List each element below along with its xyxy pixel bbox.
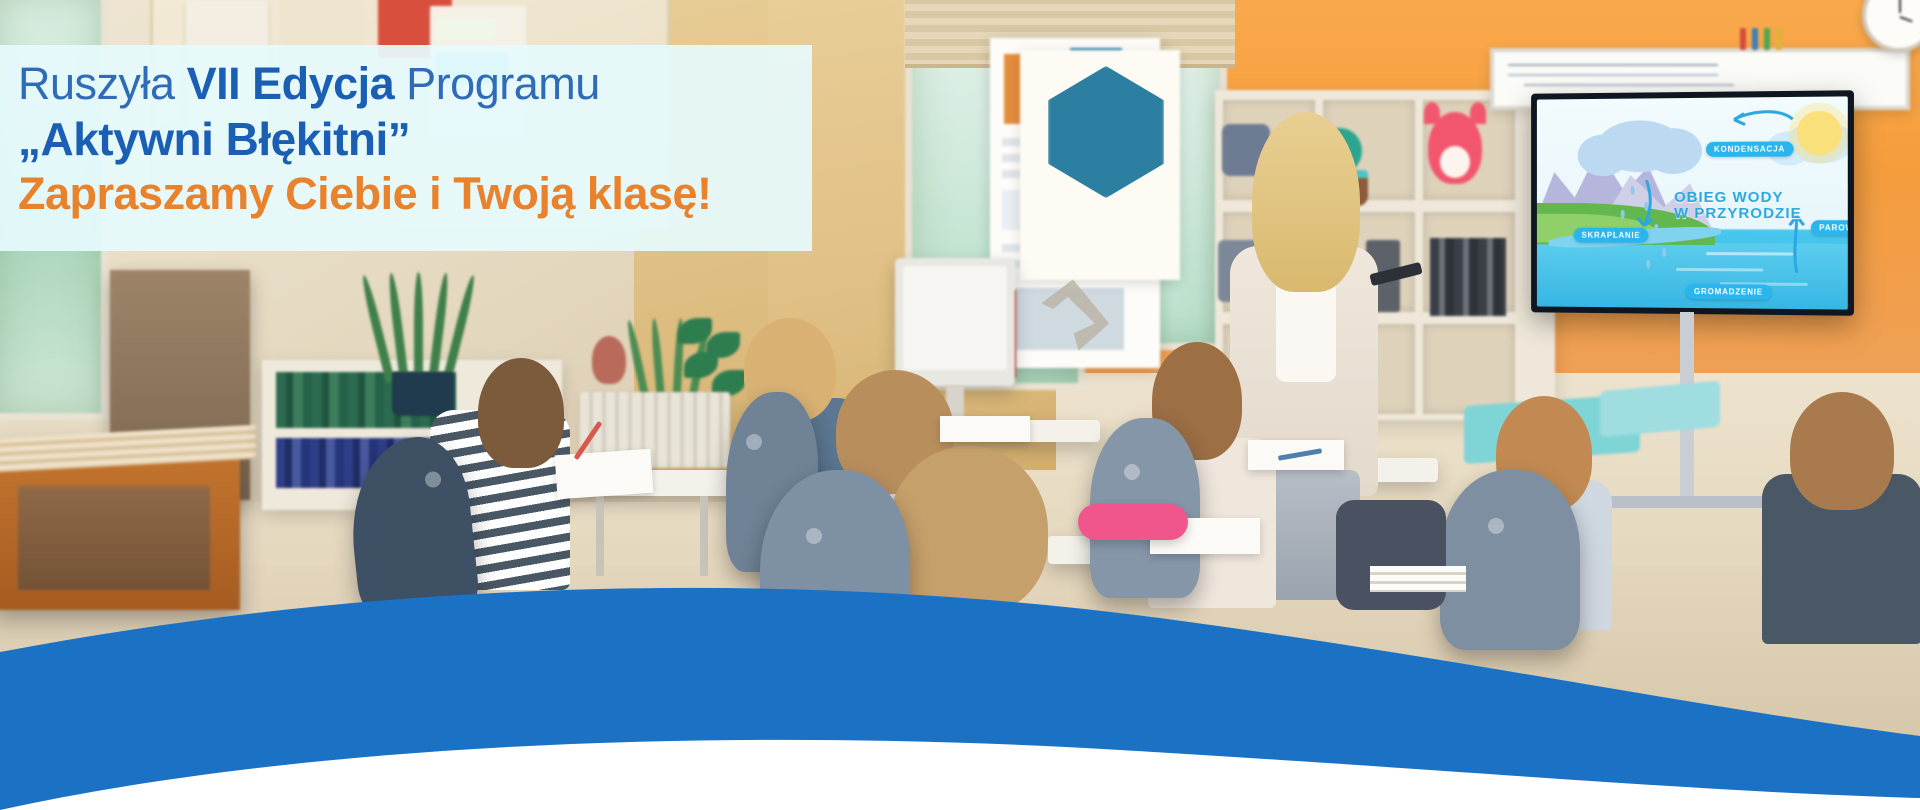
label-kondensacja: KONDENSACJA (1706, 141, 1793, 157)
student-head-1 (478, 358, 564, 468)
wall-poster-6 (436, 18, 496, 40)
blue-wave-footer (0, 560, 1920, 810)
headline-line-1-suffix: Programu (394, 58, 600, 109)
notebook-back (940, 416, 1030, 442)
marker-red (1740, 28, 1746, 50)
shelf-books (1430, 238, 1506, 316)
headline-panel: Ruszyła VII Edycja Programu „Aktywni Błę… (0, 45, 812, 251)
marker-green (1764, 28, 1770, 50)
wave-shape (0, 560, 1920, 810)
plant-tall (380, 252, 466, 382)
water-cycle-diagram: OBIEG WODY W PRZYRODZIE KONDENSACJA SKRA… (1537, 96, 1848, 309)
headline-line-2: „Aktywni Błękitni” (18, 116, 812, 162)
marker-blue (1752, 28, 1758, 50)
diagram-title: OBIEG WODY W PRZYRODZIE (1674, 190, 1802, 222)
label-gromadzenie: GROMADZENIE (1686, 284, 1771, 300)
banner-root: OBIEG WODY W PRZYRODZIE KONDENSACJA SKRA… (0, 0, 1920, 810)
headline-line-1-prefix: Ruszyła (18, 58, 187, 109)
monitor-screen (903, 266, 1007, 370)
headline-line-1-bold: VII Edycja (187, 58, 395, 109)
clay-vase (592, 336, 626, 384)
marker-yellow (1776, 28, 1782, 50)
fox-toy (1428, 112, 1482, 184)
headline-line-3: Zapraszamy Ciebie i Twoją klasę! (18, 171, 812, 216)
teal-soft-seat-2 (1600, 381, 1720, 437)
whiteboard-writing (1508, 64, 1718, 66)
label-parowanie: PAROWANIE (1811, 220, 1848, 235)
teacher-hair (1252, 112, 1360, 292)
notebook-left (555, 449, 654, 500)
plant-pot-dark (392, 372, 454, 416)
display-stand-base (1596, 496, 1782, 508)
pink-pencil-case (1078, 504, 1188, 540)
headline-line-1: Ruszyła VII Edycja Programu (18, 61, 812, 106)
label-skraplanie: SKRAPLANIE (1574, 228, 1649, 243)
classroom-display-screen: OBIEG WODY W PRZYRODZIE KONDENSACJA SKRA… (1531, 90, 1854, 316)
student-head-7 (1790, 392, 1894, 510)
